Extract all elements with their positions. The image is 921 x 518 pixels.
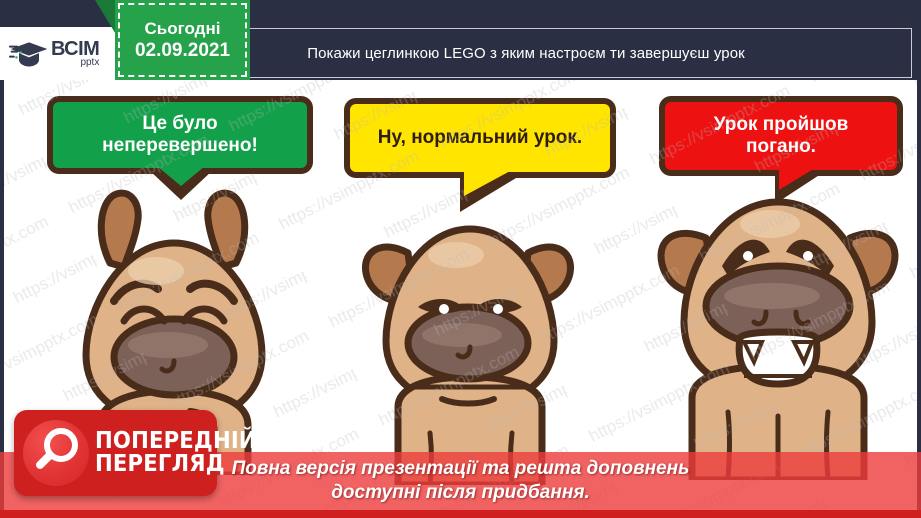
speech-bubble-positive: Це булонеперевершено! xyxy=(47,96,313,174)
speech-bubble-neutral: Ну, нормальний урок. xyxy=(344,98,616,178)
preview-badge-line2: ПЕРЕГЛЯД xyxy=(95,453,257,476)
magnifier-icon xyxy=(23,420,89,486)
title-frame: Покажи цеглинкою LEGO з яким настроєм ти… xyxy=(140,28,912,78)
dog-angry xyxy=(644,180,914,480)
bubble-green-text: Це булонеперевершено! xyxy=(94,109,266,162)
bubble-red-text: Урок пройшовпогано. xyxy=(706,110,857,163)
speech-bubble-negative: Урок пройшовпогано. xyxy=(659,96,903,176)
preview-badge-line1: ПОПЕРЕДНІЙ xyxy=(95,430,257,453)
dog-neutral xyxy=(352,195,592,485)
slide-root: Покажи цеглинкою LEGO з яким настроєм ти… xyxy=(0,0,921,518)
graduation-cap-icon xyxy=(9,37,49,71)
preview-badge[interactable]: ПОПЕРЕДНІЙ ПЕРЕГЛЯД xyxy=(14,410,217,496)
preview-badge-labels: ПОПЕРЕДНІЙ ПЕРЕГЛЯД xyxy=(95,430,271,477)
bubble-tail-inner xyxy=(779,168,815,190)
bottom-accent-bar xyxy=(0,510,921,518)
date-flag-label: Сьогодні xyxy=(145,18,221,39)
date-flag-date: 02.09.2021 xyxy=(135,39,230,63)
magnifier-icon-circle xyxy=(23,420,89,486)
page-title: Покажи цеглинкою LEGO з яким настроєм ти… xyxy=(297,45,755,62)
date-flag: Сьогодні 02.09.2021 xyxy=(115,0,250,80)
bubble-tail-inner xyxy=(157,166,205,186)
bottom-banner-line2: доступні після придбання. xyxy=(331,481,590,505)
logo: ВСІМ pptx xyxy=(0,27,122,80)
bubble-yellow-text: Ну, нормальний урок. xyxy=(370,123,590,153)
logo-text: ВСІМ pptx xyxy=(51,39,99,68)
bubble-tail-inner xyxy=(464,170,512,196)
logo-title: ВСІМ xyxy=(51,39,99,59)
bottom-banner-line1: Повна версія презентації та решта доповн… xyxy=(232,457,690,481)
